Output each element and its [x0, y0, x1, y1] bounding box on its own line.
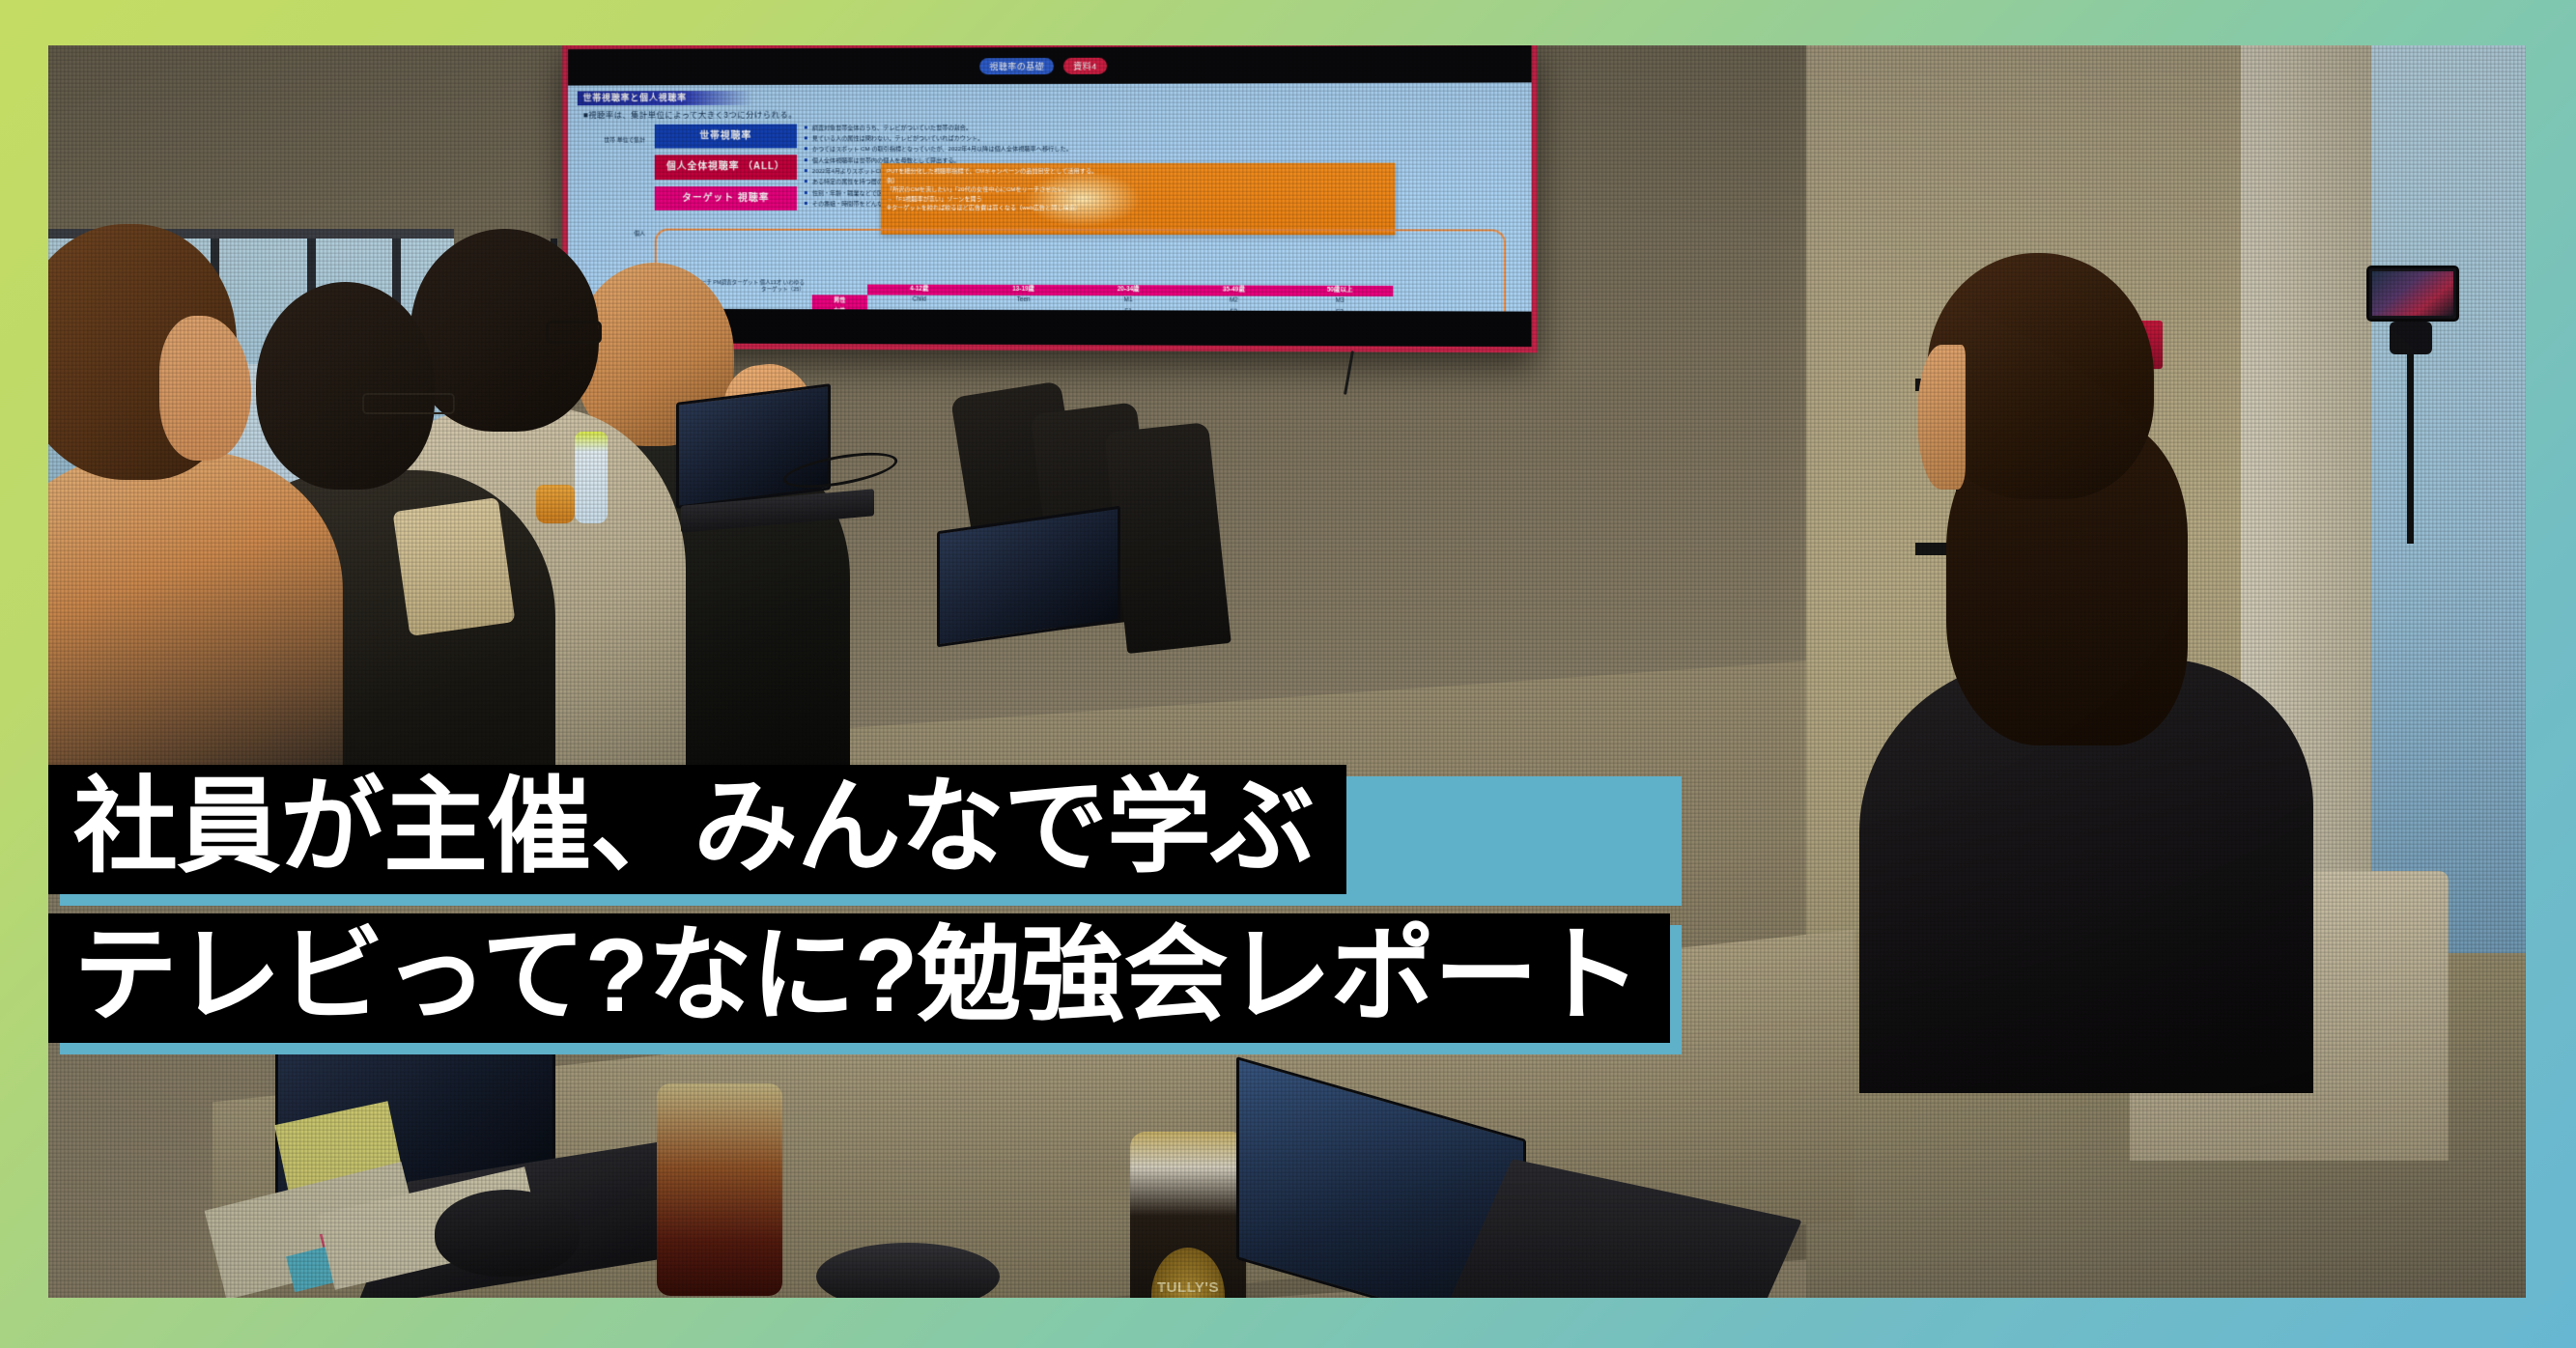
woman-right-face	[1917, 345, 1966, 490]
slide-lead-text: ■視聴率は、集計単位によって大きく3つに分けられる。	[583, 108, 1522, 121]
meeting-photo: 視聴率の基礎 資料4 世帯視聴率と個人視聴率 ■視聴率は、集計単位によって大きく…	[48, 45, 2526, 1298]
coffee-bottle: TULLY'S COFFEE	[1130, 1132, 1246, 1298]
slide-tab-document: 資料4	[1063, 57, 1107, 73]
demo-age-13-19: 13-19歳	[972, 284, 1076, 295]
slide-tab-topic: 視聴率の基礎	[979, 57, 1054, 73]
laptop-screen	[937, 506, 1120, 648]
laptop-screen	[676, 383, 831, 509]
woman-left-face	[159, 316, 251, 461]
demo-age-50up: 50歳以上	[1287, 285, 1393, 295]
callout-line-3: →「F1視聴率が高い」ゾーンを買う	[887, 195, 1389, 205]
article-hero-banner: 視聴率の基礎 資料4 世帯視聴率と個人視聴率 ■視聴率は、集計単位によって大きく…	[0, 0, 2576, 1348]
callout-line-2: 「所沢のCMを流したい」「20代の女性中心にCMをリーチさせたい」	[887, 185, 1389, 195]
demo-table-header: 4-12歳 13-19歳 20-34歳 35-49歳 50歳以上	[812, 284, 1394, 296]
person-woman-left	[48, 224, 353, 823]
callout-line-1: 例）	[887, 176, 1389, 185]
computer-mouse	[435, 1190, 580, 1277]
demo-cell-m3: M3	[1287, 296, 1393, 306]
eyeglasses-icon	[362, 393, 455, 414]
chip-target-rating: ターゲット 視聴率	[655, 186, 797, 211]
hero-title-line-2: テレビって?なに?勉強会レポート	[48, 913, 1670, 1043]
hero-title: 社員が主催、みんなで学ぶ テレビって?なに?勉強会レポート	[48, 765, 1670, 1062]
bottle-brand-label: TULLY'S COFFEE	[1151, 1248, 1225, 1298]
demo-cell-m1: M1	[1076, 295, 1181, 305]
hero-title-text-2: テレビって?なに?勉強会レポート	[48, 913, 1670, 1043]
person-woman-right	[1888, 253, 2468, 1219]
chip-individual-all-rating: 個人全体視聴率 （ALL）	[655, 155, 797, 180]
demo-cell-m-teen: Teen	[972, 295, 1076, 305]
demo-cell-m2: M2	[1181, 296, 1288, 306]
rating-type-chips: 世帯視聴率 個人全体視聴率 （ALL） ターゲット 視聴率	[655, 124, 797, 211]
man-collar	[392, 497, 515, 636]
display-top-bezel: 視聴率の基礎 資料4	[568, 45, 1531, 86]
note-household: 世帯 単位で集計	[604, 138, 645, 145]
hero-title-text-1: 社員が主催、みんなで学ぶ	[48, 765, 1346, 894]
laptop	[1236, 1098, 1739, 1298]
laptop	[937, 519, 1159, 673]
hero-title-line-1: 社員が主催、みんなで学ぶ	[48, 765, 1670, 894]
bullet-household-3: かつてはスポット CM の取引指標となっていたが、2022年4月以降は個人全体視…	[805, 145, 1521, 154]
slide-title: 世帯視聴率と個人視聴率	[578, 91, 753, 106]
demo-age-4-12: 4-12歳	[867, 284, 972, 295]
demo-age-20-34: 20-34歳	[1076, 285, 1181, 295]
callout-heading: PUTを細分化した視聴率指標で、CMキャンペーンの品質目安として活用する。	[887, 167, 1389, 177]
snack-box	[536, 485, 575, 523]
water-bottle	[575, 432, 608, 523]
callout-line-4: ※ターゲットを絞れば絞るほど広告費は高くなる（web広告と同じ構造）	[887, 204, 1389, 213]
slide-axis-notes: 世帯 単位で集計 個人	[578, 125, 647, 211]
woman-left-torso	[48, 451, 343, 799]
man-face	[343, 340, 449, 490]
slide-callout-box: PUTを細分化した視聴率指標で、CMキャンペーンの品質目安として活用する。 例）…	[881, 163, 1395, 236]
demo-cell-m-child: Child	[867, 295, 972, 305]
demo-age-35-49: 35-49歳	[1181, 285, 1288, 295]
bullet-household-1: 調査対象世帯全体のうち、テレビがついていた世帯の割合。	[805, 123, 1521, 133]
bullet-household-2: 見ている人の属性は問わない。テレビがついていればカウント。	[805, 133, 1521, 144]
chip-household-rating: 世帯視聴率	[655, 124, 797, 149]
beverage-bottle	[657, 1083, 782, 1296]
